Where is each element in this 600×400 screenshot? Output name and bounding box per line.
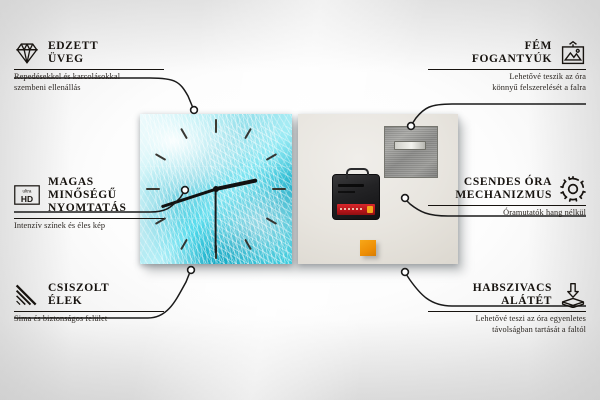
callout-csendes-ora-mechanizmus: CSENDES ÓRA MECHANIZMUS Óramutatók hang … (428, 176, 586, 219)
metal-hanger-part (384, 126, 438, 178)
callout-title-line1: CSENDES ÓRA (455, 176, 552, 189)
callout-divider (428, 205, 586, 206)
infographic-canvas: EDZETT ÜVEG Repedésekkel és karcolásokka… (0, 0, 600, 400)
callout-title-line2: ÜVEG (48, 53, 98, 66)
gear-icon (560, 176, 586, 202)
callout-title-line2: FOGANTYÚK (472, 53, 552, 66)
callout-edzett-uveg: EDZETT ÜVEG Repedésekkel és karcolásokka… (14, 40, 164, 94)
clock-tick (215, 119, 217, 189)
callout-fem-fogantyuk: FÉM FOGANTYÚK Lehetővé teszik az óra kön… (428, 40, 586, 94)
callout-divider (428, 311, 586, 312)
callout-subtitle-line1: Óramutatók hang nélkül (428, 208, 586, 219)
callout-divider (428, 69, 586, 70)
product-image (140, 114, 460, 266)
feather-texture-4 (210, 126, 292, 264)
callout-csiszolt-elek: CSISZOLT ÉLEK Sima és biztonságos felüle… (14, 282, 164, 325)
callout-divider (14, 218, 164, 219)
callout-title-line1: FÉM (472, 40, 552, 53)
callout-subtitle-line2: könnyű felszerelését a falra (428, 83, 586, 94)
callout-title-line2: MECHANIZMUS (455, 189, 552, 202)
foam-pad-icon (560, 282, 586, 308)
mechanism-slot (338, 184, 364, 187)
callout-title-line2: ÉLEK (48, 295, 109, 308)
ultra-hd-icon: ultra HD (14, 182, 40, 208)
callout-title-line1: EDZETT (48, 40, 98, 53)
clock-mechanism-part (332, 174, 380, 220)
leader-dot-edzett (191, 107, 198, 114)
mechanism-slot (338, 191, 355, 193)
beveled-edge-icon (14, 282, 40, 308)
callout-title-line1: MAGAS MINŐSÉGŰ (48, 176, 164, 202)
callout-subtitle-line2: távolságban tartását a faltól (428, 325, 586, 336)
callout-title-line2: ALÁTÉT (473, 295, 552, 308)
callout-subtitle-line1: Lehetővé teszik az óra (428, 72, 586, 83)
callout-title-line1: HABSZIVACS (473, 282, 552, 295)
callout-subtitle-line2: szembeni ellenállás (14, 83, 164, 94)
diamond-icon (14, 40, 40, 66)
callout-divider (14, 69, 164, 70)
foam-pad-part (360, 240, 376, 256)
callout-subtitle-line1: Repedésekkel és karcolásokkal (14, 72, 164, 83)
wall-hanger-icon (560, 40, 586, 66)
mechanism-hook (346, 168, 369, 179)
callout-habszivacs-alatet: HABSZIVACS ALÁTÉT Lehetővé teszi az óra … (428, 282, 586, 336)
battery-part (337, 204, 375, 215)
callout-subtitle-line1: Intenzív színek és éles kép (14, 221, 164, 232)
clock-second-hand (215, 189, 217, 253)
callout-subtitle-line1: Lehetővé teszi az óra egyenletes (428, 314, 586, 325)
svg-text:HD: HD (21, 194, 33, 204)
callout-magas-minosegu-nyomtatas: ultra HD MAGAS MINŐSÉGŰ NYOMTATÁS Intenz… (14, 176, 164, 231)
callout-title-line1: CSISZOLT (48, 282, 109, 295)
clock-center-cap (213, 186, 219, 192)
svg-text:ultra: ultra (23, 189, 32, 194)
callout-divider (14, 311, 164, 312)
callout-subtitle-line1: Sima és biztonságos felület (14, 314, 164, 325)
callout-title-line2: NYOMTATÁS (48, 202, 164, 215)
